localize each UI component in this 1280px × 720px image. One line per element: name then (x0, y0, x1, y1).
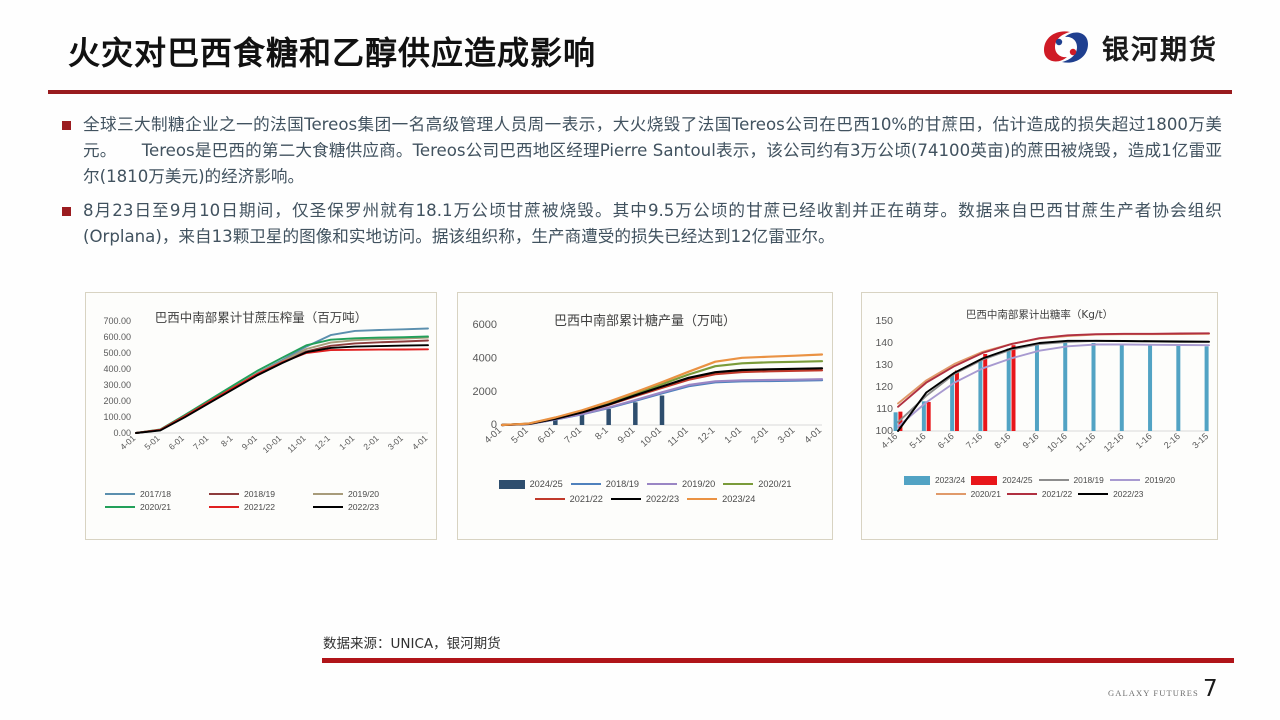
svg-text:5-01: 5-01 (142, 433, 162, 452)
legend-item: 2019/20 (1110, 475, 1175, 485)
legend-label: 2018/19 (1074, 475, 1104, 485)
svg-text:120: 120 (875, 381, 893, 393)
svg-text:11-16: 11-16 (1074, 431, 1097, 453)
svg-text:10-01: 10-01 (260, 433, 283, 455)
svg-text:100.00: 100.00 (103, 412, 131, 422)
legend-item: 2022/23 (313, 502, 417, 512)
legend-label: 2020/21 (971, 489, 1001, 499)
svg-text:10-01: 10-01 (639, 425, 664, 449)
svg-text:600.00: 600.00 (103, 332, 131, 342)
svg-text:1-01: 1-01 (723, 425, 744, 446)
svg-text:6-16: 6-16 (936, 431, 956, 450)
legend-swatch (687, 498, 717, 500)
svg-text:12-16: 12-16 (1102, 431, 1126, 454)
legend-label: 2022/23 (646, 494, 679, 504)
legend-item: 2018/19 (209, 489, 313, 499)
svg-text:300.00: 300.00 (103, 380, 131, 390)
list-item: 8月23日至9月10日期间，仅圣保罗州就有18.1万公顷甘蔗被烧毁。其中9.5万… (62, 198, 1222, 250)
legend-swatch (723, 483, 753, 485)
legend-item: 2019/20 (647, 479, 715, 489)
legend-label: 2018/19 (244, 489, 275, 499)
legend-label: 2021/22 (570, 494, 603, 504)
legend-item: 2020/21 (105, 502, 209, 512)
legend-label: 2024/25 (530, 479, 563, 489)
chart-sugar-output: 巴西中南部累计糖产量（万吨） 02000400060004-015-016-01… (457, 292, 833, 540)
bullet-text: 全球三大制糖企业之一的法国Tereos集团一名高级管理人员周一表示，大火烧毁了法… (83, 112, 1222, 190)
legend-swatch (611, 498, 641, 500)
legend-label: 2018/19 (606, 479, 639, 489)
legend-item: 2020/21 (936, 489, 1001, 499)
legend-swatch (936, 493, 966, 495)
legend-swatch (647, 483, 677, 485)
chart-legend: 2023/242024/252018/192019/20 2020/212021… (862, 475, 1217, 503)
legend-swatch (499, 480, 525, 489)
square-bullet-icon (62, 207, 71, 216)
bullet-text: 8月23日至9月10日期间，仅圣保罗州就有18.1万公顷甘蔗被烧毁。其中9.5万… (83, 198, 1222, 250)
svg-text:6000: 6000 (473, 319, 497, 331)
svg-text:1-16: 1-16 (1134, 431, 1154, 450)
legend-swatch (1078, 493, 1108, 495)
svg-text:9-16: 9-16 (1021, 431, 1041, 450)
svg-text:7-01: 7-01 (191, 433, 211, 452)
svg-text:3-15: 3-15 (1190, 431, 1210, 450)
svg-text:110: 110 (876, 403, 893, 415)
svg-text:4-01: 4-01 (483, 425, 504, 446)
legend-item: 2023/24 (687, 494, 755, 504)
legend-swatch (971, 476, 997, 485)
svg-text:8-1: 8-1 (593, 425, 611, 442)
svg-text:7-01: 7-01 (563, 425, 584, 446)
svg-text:6-01: 6-01 (167, 433, 187, 452)
legend-swatch (105, 493, 135, 495)
svg-text:8-16: 8-16 (992, 431, 1012, 450)
chart-plot-area: 02000400060004-015-016-017-018-19-0110-0… (458, 319, 834, 469)
svg-text:7-16: 7-16 (964, 431, 984, 450)
legend-label: 2024/25 (1002, 475, 1032, 485)
svg-text:2-01: 2-01 (749, 425, 770, 446)
legend-item: 2024/25 (499, 479, 563, 489)
page-number: 7 (1203, 676, 1218, 702)
legend-label: 2017/18 (140, 489, 171, 499)
svg-text:2000: 2000 (473, 386, 497, 398)
legend-swatch (313, 493, 343, 495)
svg-text:130: 130 (875, 359, 893, 371)
legend-label: 2019/20 (1145, 475, 1175, 485)
legend-label: 2022/23 (348, 502, 379, 512)
legend-item: 2021/22 (1007, 489, 1072, 499)
svg-text:11-01: 11-01 (285, 433, 308, 455)
header-divider (48, 90, 1232, 94)
svg-text:3-01: 3-01 (386, 433, 406, 452)
legend-item: 2024/25 (971, 475, 1032, 485)
legend-label: 2022/23 (1113, 489, 1143, 499)
company-logo: 银河期货 (1040, 26, 1218, 68)
svg-text:1-01: 1-01 (337, 433, 357, 452)
svg-text:4-01: 4-01 (803, 425, 824, 446)
legend-label: 2020/21 (140, 502, 171, 512)
svg-text:5-01: 5-01 (509, 425, 530, 446)
legend-item: 2017/18 (105, 489, 209, 499)
legend-item: 2021/22 (209, 502, 313, 512)
svg-text:2-16: 2-16 (1162, 431, 1182, 450)
list-item: 全球三大制糖企业之一的法国Tereos集团一名高级管理人员周一表示，大火烧毁了法… (62, 112, 1222, 190)
legend-item: 2022/23 (1078, 489, 1143, 499)
legend-item: 2023/24 (904, 475, 965, 485)
chart-legend: 2024/252018/192019/202020/21 2021/222022… (458, 479, 832, 509)
legend-item: 2018/19 (571, 479, 639, 489)
svg-text:400.00: 400.00 (103, 364, 131, 374)
legend-swatch (1110, 479, 1140, 481)
svg-text:4-01: 4-01 (410, 433, 430, 452)
svg-text:8-1: 8-1 (219, 433, 235, 449)
svg-text:12-1: 12-1 (313, 433, 333, 452)
chart-plot-area: 1001101201301401504-165-166-167-168-169-… (862, 315, 1219, 475)
svg-text:6-01: 6-01 (536, 425, 557, 446)
legend-label: 2020/21 (758, 479, 791, 489)
legend-label: 2021/22 (244, 502, 275, 512)
chart-plot-area: 0.00100.00200.00300.00400.00500.00600.00… (86, 315, 438, 475)
slide-header: 火灾对巴西食糖和乙醇供应造成影响 银河期货 (0, 0, 1280, 92)
legend-item: 2022/23 (611, 494, 679, 504)
galaxy-swirl-logo-icon (1040, 26, 1092, 68)
legend-swatch (209, 506, 239, 508)
chart-cane-crush: 巴西中南部累计甘蔗压榨量（百万吨） 0.00100.00200.00300.00… (85, 292, 437, 540)
svg-text:9-01: 9-01 (240, 433, 260, 452)
chart-sugar-yield: 巴西中南部累计出糖率（Kg/t） 1001101201301401504-165… (861, 292, 1218, 540)
legend-swatch (313, 506, 343, 508)
page-title: 火灾对巴西食糖和乙醇供应造成影响 (68, 28, 596, 74)
svg-text:5-16: 5-16 (908, 431, 928, 450)
legend-item: 2019/20 (313, 489, 417, 499)
legend-swatch (571, 483, 601, 485)
legend-label: 2019/20 (682, 479, 715, 489)
svg-text:150: 150 (875, 315, 893, 327)
legend-label: 2023/24 (722, 494, 755, 504)
legend-item: 2021/22 (535, 494, 603, 504)
square-bullet-icon (62, 121, 71, 130)
slide: 火灾对巴西食糖和乙醇供应造成影响 银河期货 全球三大制糖企业之一的法国Tereo… (0, 0, 1280, 720)
legend-label: 2019/20 (348, 489, 379, 499)
legend-swatch (209, 493, 239, 495)
legend-item: 2020/21 (723, 479, 791, 489)
logo-text: 银河期货 (1102, 28, 1218, 67)
svg-text:200.00: 200.00 (103, 396, 131, 406)
svg-text:10-16: 10-16 (1045, 431, 1069, 454)
legend-swatch (904, 476, 930, 485)
svg-text:12-1: 12-1 (696, 425, 717, 446)
brand-footer: GALAXY FUTURES (1108, 688, 1199, 698)
chart-legend: 2017/182018/192019/20 2020/212021/222022… (86, 489, 436, 515)
legend-item: 2018/19 (1039, 475, 1104, 485)
legend-swatch (1007, 493, 1037, 495)
svg-text:700.00: 700.00 (103, 316, 131, 326)
svg-text:2-01: 2-01 (361, 433, 381, 452)
footer-divider (322, 658, 1234, 663)
svg-text:500.00: 500.00 (103, 348, 131, 358)
legend-label: 2021/22 (1042, 489, 1072, 499)
svg-text:11-01: 11-01 (666, 425, 691, 449)
legend-swatch (1039, 479, 1069, 481)
bullet-list: 全球三大制糖企业之一的法国Tereos集团一名高级管理人员周一表示，大火烧毁了法… (62, 112, 1222, 258)
legend-swatch (105, 506, 135, 508)
svg-text:3-01: 3-01 (776, 425, 797, 446)
svg-text:4000: 4000 (473, 353, 497, 365)
legend-label: 2023/24 (935, 475, 965, 485)
source-note: 数据来源：UNICA，银河期货 (323, 632, 501, 652)
legend-swatch (535, 498, 565, 500)
svg-text:140: 140 (875, 337, 893, 349)
svg-text:9-01: 9-01 (616, 425, 637, 446)
